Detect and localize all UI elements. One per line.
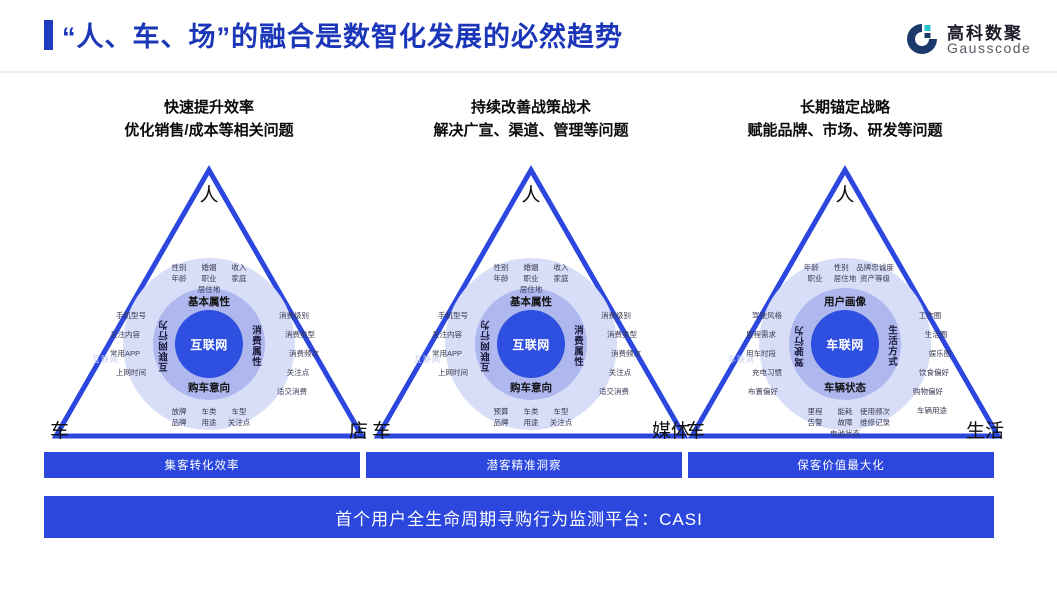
core-label: 互联网 [190, 336, 228, 353]
label-item: 饮食偏好 [898, 363, 970, 382]
sub-banner-label: 集客转化效率 [165, 457, 240, 473]
column-block-1: 快速提升效率优化销售/成本等相关问题人车店基本属性购车意向互联网行为消费属性互联… [44, 96, 374, 456]
label-cell: 预算 [486, 406, 516, 417]
page-header: “人、车、场”的融合是数智化发展的必然趋势 高科数聚 Gausscode [0, 0, 1057, 72]
watermark-text: 车联网 [728, 354, 755, 365]
triangle-diagram: 人车生活用户画像车辆状态驾驶行为生活方式车联网年龄性别品牌忠诚度职业居住地资产等… [680, 158, 1010, 448]
sub-banner-3: 保客价值最大化 [688, 452, 994, 478]
label-item: 消费频次 [590, 344, 662, 363]
column-heading: 快速提升效率优化销售/成本等相关问题 [44, 96, 374, 142]
label-cell: 维修记录 [860, 417, 890, 428]
ring-core: 互联网 [175, 310, 243, 378]
label-item: 生活圈 [900, 325, 972, 344]
label-cell: 能耗 [830, 406, 860, 417]
label-cell: 年龄 [796, 262, 826, 273]
column-block-3: 长期锚定战略赋能品牌、市场、研发等问题人车生活用户画像车辆状态驾驶行为生活方式车… [680, 96, 1010, 456]
core-label: 互联网 [512, 336, 550, 353]
label-cell: 关注点 [224, 417, 254, 428]
label-cell: 职业 [800, 273, 830, 284]
label-row: 放牌车类车型 [125, 406, 293, 417]
triangle-apex-label: 人 [44, 180, 374, 207]
label-row: 年龄职业家庭 [129, 273, 289, 284]
sub-banner-label: 潜客精准洞察 [487, 457, 562, 473]
label-cell: 车类 [194, 406, 224, 417]
label-cell: 职业 [516, 273, 546, 284]
label-cell: 居住地 [516, 284, 546, 295]
label-row: 职业居住地资产等级 [765, 273, 925, 284]
triangle-corner-right-label: 生活 [966, 416, 1004, 443]
label-cell: 家庭 [224, 273, 254, 284]
main-banner-label: 首个用户全生命周期寻购行为监测平台：CASI [335, 505, 703, 530]
column-heading: 长期锚定战略赋能品牌、市场、研发等问题 [680, 96, 1010, 142]
label-cell: 婚姻 [194, 262, 224, 273]
label-cell: 收入 [546, 262, 576, 273]
label-cell: 收入 [224, 262, 254, 273]
label-cell: 车型 [224, 406, 254, 417]
sub-banner-2: 潜客精准洞察 [366, 452, 682, 478]
column-heading: 持续改善战策战术解决广宣、渠道、管理等问题 [366, 96, 696, 142]
label-row: 品牌用途关注点 [125, 417, 293, 428]
triangle-diagram: 人车媒体基本属性购车意向互联网行为消费属性互联网性别婚姻收入年龄职业家庭居住地预… [366, 158, 696, 448]
label-cell: 品牌忠诚度 [856, 262, 894, 273]
label-cell: 用途 [194, 417, 224, 428]
outer-labels-bottom: 放牌车类车型品牌用途关注点 [125, 406, 293, 428]
label-item: 布置偏好 [732, 382, 794, 401]
label-cell: 性别 [826, 262, 856, 273]
column-block-2: 持续改善战策战术解决广宣、渠道、管理等问题人车媒体基本属性购车意向互联网行为消费… [366, 96, 696, 456]
triangle-apex-label: 人 [366, 180, 696, 207]
main-banner: 首个用户全生命周期寻购行为监测平台：CASI [44, 496, 994, 538]
label-cell: 告警 [800, 417, 830, 428]
page-title: “人、车、场”的融合是数智化发展的必然趋势 [62, 15, 623, 54]
logo-text-en: Gausscode [947, 40, 1031, 56]
triangle-corner-left-label: 车 [372, 416, 391, 443]
label-row: 年龄职业家庭 [451, 273, 611, 284]
label-item: 消费频次 [268, 344, 340, 363]
label-item: 关注内容 [94, 325, 156, 344]
label-cell: 电池状态 [830, 428, 860, 439]
label-cell: 用途 [516, 417, 546, 428]
label-item: 上网时间 [422, 363, 484, 382]
header-divider [0, 71, 1057, 73]
label-row: 居住地 [129, 284, 289, 295]
outer-labels-right: 消费级别消费类型消费频次关注点适交消费 [260, 306, 332, 401]
label-item: 手机型号 [422, 306, 484, 325]
label-item: 充电习惯 [736, 363, 798, 382]
watermark-text: 互联网 [414, 354, 441, 365]
label-item: 购物偏好 [892, 382, 964, 401]
label-cell: 车类 [516, 406, 546, 417]
label-cell: 关注点 [546, 417, 576, 428]
label-item: 车辆用途 [896, 401, 968, 420]
label-cell: 放牌 [164, 406, 194, 417]
triangle-corner-left-label: 车 [50, 416, 69, 443]
gausscode-logo-icon [905, 22, 939, 56]
label-item: 关注点 [584, 363, 656, 382]
label-row: 性别婚姻收入 [129, 262, 289, 273]
label-cell: 使用频次 [860, 406, 890, 417]
label-cell: 品牌 [164, 417, 194, 428]
column-heading-line2: 解决广宣、渠道、管理等问题 [366, 119, 696, 142]
triangle-diagram: 人车店基本属性购车意向互联网行为消费属性互联网性别婚姻收入年龄职业家庭居住地放牌… [44, 158, 374, 448]
outer-labels-bottom: 预算车类车型品牌用途关注点 [447, 406, 615, 428]
column-heading-line1: 长期锚定战略 [800, 99, 890, 116]
label-item: 关注点 [262, 363, 334, 382]
label-cell: 职业 [194, 273, 224, 284]
column-heading-line2: 优化销售/成本等相关问题 [44, 119, 374, 142]
label-cell: 故障 [830, 417, 860, 428]
triangle-apex-label: 人 [680, 180, 1010, 207]
column-heading-line1: 持续改善战策战术 [471, 99, 591, 116]
label-row: 居住地 [451, 284, 611, 295]
label-item: 消费级别 [258, 306, 330, 325]
column-heading-line2: 赋能品牌、市场、研发等问题 [680, 119, 1010, 142]
label-item: 里程需求 [730, 325, 792, 344]
label-item: 关注内容 [416, 325, 478, 344]
label-cell: 里程 [800, 406, 830, 417]
label-cell: 资产等级 [860, 273, 890, 284]
outer-labels-right: 消费级别消费类型消费频次关注点适交消费 [582, 306, 654, 401]
outer-labels-top: 性别婚姻收入年龄职业家庭居住地 [451, 262, 611, 295]
label-row: 预算车类车型 [447, 406, 615, 417]
column-heading-line1: 快速提升效率 [164, 99, 254, 116]
label-item: 工作圈 [894, 306, 966, 325]
outer-labels-top: 性别婚姻收入年龄职业家庭居住地 [129, 262, 289, 295]
label-item: 消费级别 [580, 306, 652, 325]
label-cell: 年龄 [486, 273, 516, 284]
label-cell: 家庭 [546, 273, 576, 284]
watermark-text: 互联网 [92, 354, 119, 365]
label-cell: 性别 [486, 262, 516, 273]
label-item: 消费类型 [586, 325, 658, 344]
label-item: 消费类型 [264, 325, 336, 344]
label-item: 上网时间 [100, 363, 162, 382]
label-cell: 品牌 [486, 417, 516, 428]
ring-core: 互联网 [497, 310, 565, 378]
core-label: 车联网 [826, 336, 864, 353]
label-cell: 年龄 [164, 273, 194, 284]
brand-logo: 高科数聚 Gausscode [905, 18, 1045, 62]
label-item: 手机型号 [100, 306, 162, 325]
label-cell: 婚姻 [516, 262, 546, 273]
label-item: 娱乐圈 [904, 344, 976, 363]
title-accent-bar [44, 20, 53, 50]
outer-labels-left: 手机型号关注内容常用APP上网时间 [418, 306, 480, 382]
label-item: 适交消费 [256, 382, 328, 401]
label-row: 性别婚姻收入 [451, 262, 611, 273]
label-cell: 居住地 [194, 284, 224, 295]
outer-labels-right: 工作圈生活圈娱乐圈饮食偏好购物偏好车辆用途 [896, 306, 968, 420]
sub-banner-1: 集客转化效率 [44, 452, 360, 478]
sub-banner-label: 保客价值最大化 [797, 457, 885, 473]
label-row: 年龄性别品牌忠诚度 [765, 262, 925, 273]
triangle-corner-left-label: 车 [686, 416, 705, 443]
ring-core: 车联网 [811, 310, 879, 378]
label-row: 电池状态 [761, 428, 929, 439]
label-row: 品牌用途关注点 [447, 417, 615, 428]
outer-labels-top: 年龄性别品牌忠诚度职业居住地资产等级 [765, 262, 925, 284]
label-cell: 性别 [164, 262, 194, 273]
label-item: 驾驶风格 [736, 306, 798, 325]
label-cell: 居住地 [830, 273, 860, 284]
label-cell: 车型 [546, 406, 576, 417]
label-item: 适交消费 [578, 382, 650, 401]
outer-labels-left: 手机型号关注内容常用APP上网时间 [96, 306, 158, 382]
